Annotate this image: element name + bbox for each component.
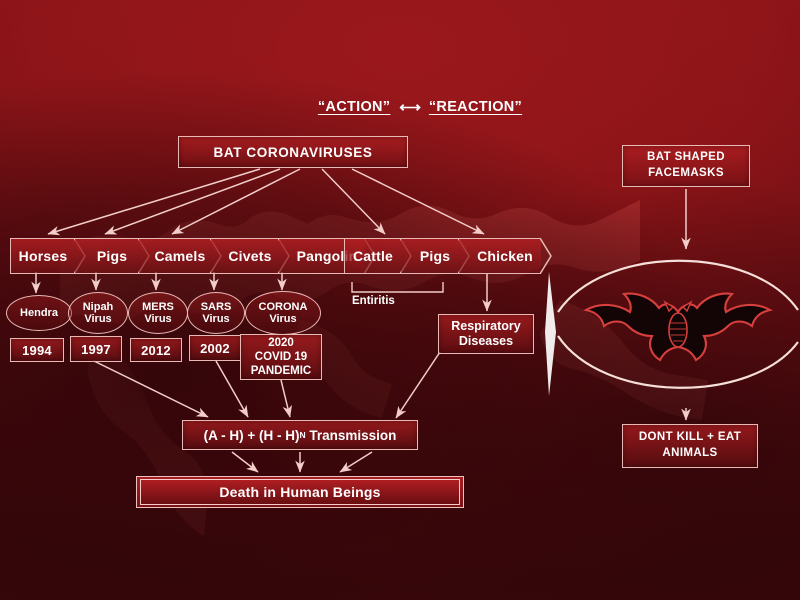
bat-shaped-facemasks-box: BAT SHAPEDFACEMASKS <box>622 145 750 187</box>
covid-tag: PANDEMIC <box>251 364 311 378</box>
covid-name: COVID 19 <box>255 350 307 364</box>
double-arrow-icon: ⟷ <box>399 100 420 115</box>
formula-part-a: (A - H) + (H - H) <box>204 428 300 443</box>
host-chevron-pigs: Pigs <box>401 238 459 274</box>
host-chain-group-a: Horses Pigs Camels Civets Pangolin <box>10 238 365 274</box>
host-chevron-chicken: Chicken <box>459 238 541 274</box>
host-chevron-horses: Horses <box>10 238 75 274</box>
virus-oval-sars: SARSVirus <box>187 292 245 334</box>
host-label: Chicken <box>477 248 533 264</box>
host-label: Cattle <box>353 248 393 264</box>
covid-year: 2020 <box>268 336 294 350</box>
host-label: Pigs <box>97 248 127 264</box>
page-title: “ACTION” ⟷ “REACTION” <box>300 96 540 118</box>
host-chain-group-b: Cattle Pigs Chicken <box>344 238 541 274</box>
virus-oval-mers: MERSVirus <box>128 292 188 334</box>
virus-oval-corona: CORONAVirus <box>245 291 321 335</box>
source-box-bat-coronaviruses: BAT CORONAVIRUSES <box>178 136 408 168</box>
virus-oval-hendra: Hendra <box>6 295 72 331</box>
host-label: Civets <box>228 248 271 264</box>
dont-kill-eat-animals-box: DONT KILL + EATANIMALS <box>622 424 758 468</box>
transmission-formula-box: (A - H) + (H - H)N Transmission <box>182 420 418 450</box>
host-label: Pigs <box>420 248 450 264</box>
bat-illustration <box>556 252 800 402</box>
host-label: Horses <box>19 248 68 264</box>
formula-part-b: Transmission <box>309 428 396 443</box>
host-chevron-pigs: Pigs <box>75 238 139 274</box>
year-box-2002: 2002 <box>189 335 241 361</box>
death-outcome-box: Death in Human Beings <box>136 476 464 508</box>
formula-exponent: N <box>299 430 305 440</box>
year-box-2020-covid19-pandemic: 2020 COVID 19 PANDEMIC <box>240 334 322 380</box>
year-box-1997: 1997 <box>70 336 122 362</box>
host-chevron-cattle: Cattle <box>344 238 401 274</box>
year-box-2012: 2012 <box>130 338 182 362</box>
title-action: “ACTION” <box>318 99 390 115</box>
infographic-canvas: “ACTION” ⟷ “REACTION” BAT CORONAVIRUSES … <box>0 0 800 600</box>
title-reaction: “REACTION” <box>429 99 522 115</box>
host-chevron-camels: Camels <box>139 238 211 274</box>
death-outcome-label: Death in Human Beings <box>140 479 460 505</box>
entiritis-bracket-label: Entiritis <box>352 295 395 307</box>
bat-icon <box>556 252 800 402</box>
virus-oval-nipah: NipahVirus <box>68 292 128 334</box>
host-label: Camels <box>154 248 205 264</box>
year-box-1994: 1994 <box>10 338 64 362</box>
respiratory-diseases-box: RespiratoryDiseases <box>438 314 534 354</box>
host-chevron-civets: Civets <box>211 238 279 274</box>
